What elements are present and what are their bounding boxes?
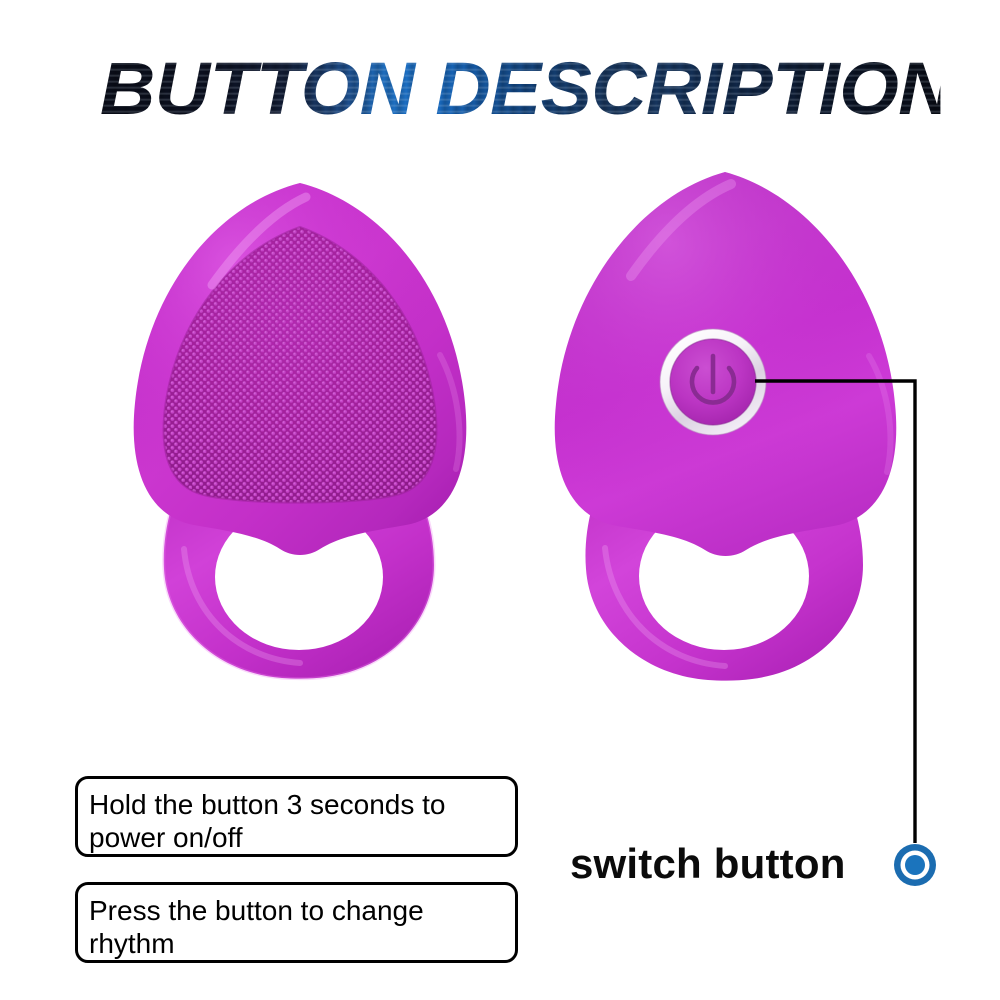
press-button-instruction-text: Press the button to change rhythm	[89, 894, 503, 960]
hold-button-instruction-box: Hold the button 3 seconds to power on/of…	[75, 776, 518, 857]
product-image-right	[545, 160, 905, 690]
page-title: BUTTON DESCRIPTION	[100, 50, 912, 128]
product-right-illustration	[545, 160, 905, 690]
callout-marker-icon	[894, 844, 936, 886]
infographic-page: BUTTON DESCRIPTION	[0, 0, 1000, 1000]
switch-button-label: switch button	[570, 838, 846, 890]
product-left-illustration	[120, 165, 480, 685]
hold-button-instruction-text: Hold the button 3 seconds to power on/of…	[89, 788, 503, 854]
power-button[interactable]	[660, 329, 766, 435]
page-title-text: BUTTON DESCRIPTION	[100, 50, 940, 128]
product-image-left	[120, 165, 480, 685]
press-button-instruction-box: Press the button to change rhythm	[75, 882, 518, 963]
